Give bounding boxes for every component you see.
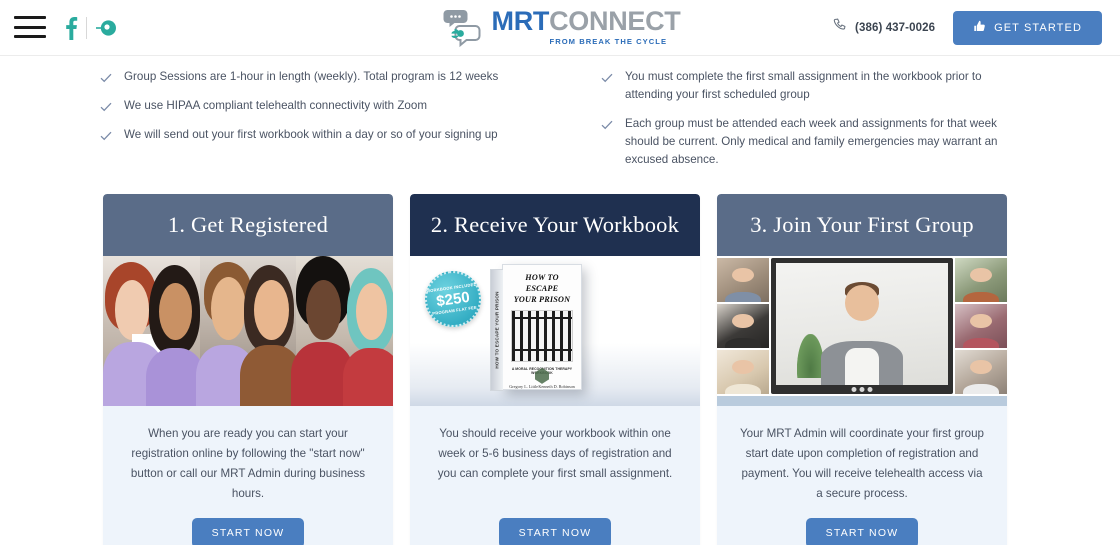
step-card-1-title: 1. Get Registered [103, 194, 393, 256]
check-icon [100, 100, 112, 112]
phone-number: (386) 437-0026 [855, 22, 935, 34]
header-actions: (386) 437-0026 GET STARTED [833, 11, 1102, 45]
phone-link[interactable]: (386) 437-0026 [833, 18, 935, 38]
pinterest-icon[interactable] [93, 15, 119, 41]
logo-secondary: CONNECT [549, 6, 680, 36]
step-card-1-body: When you are ready you can start your re… [103, 406, 393, 504]
list-item-text: We use HIPAA compliant telehealth connec… [124, 97, 427, 115]
get-started-button[interactable]: GET STARTED [953, 11, 1102, 45]
participant-thumbnail [955, 258, 1007, 302]
logo-primary: MRT [492, 6, 550, 36]
participant-thumbnail [955, 350, 1007, 394]
hamburger-menu-icon[interactable] [14, 16, 46, 38]
step-card-3-body: Your MRT Admin will coordinate your firs… [717, 406, 1007, 504]
workbook-spine: HOW TO ESCAPE YOUR PRISON [490, 269, 503, 391]
facebook-icon[interactable] [62, 13, 80, 43]
check-icon [100, 129, 112, 141]
list-item-text: Each group must be attended each week an… [625, 115, 1030, 169]
workbook-image: HOW TO ESCAPE YOUR PRISON HOW TO ESCAPE … [410, 256, 700, 406]
step-card-1-text: When you are ready you can start your re… [125, 424, 371, 504]
list-item-text: You must complete the first small assign… [625, 68, 1030, 104]
workbook-title-line1: HOW TO ESCAPE [509, 272, 575, 294]
participant-thumbnail [717, 258, 769, 302]
start-now-button-1[interactable]: START NOW [192, 518, 305, 545]
participant-column-left [717, 258, 769, 394]
participant-column-right [955, 258, 1007, 394]
site-header: MRTCONNECT FROM BREAK THE CYCLE (386) 43… [0, 0, 1120, 56]
step-card-2-text: You should receive your workbook within … [432, 424, 678, 484]
workbook-title-line2: YOUR PRISON [509, 294, 575, 305]
logo-tagline: FROM BREAK THE CYCLE [550, 38, 668, 46]
chat-bubbles-icon [440, 4, 486, 50]
main-video-tile [771, 258, 953, 394]
thumbs-up-icon [973, 20, 986, 36]
bullet-column-left: Group Sessions are 1-hour in length (wee… [100, 68, 529, 180]
bullet-column-right: You must complete the first small assign… [601, 68, 1030, 180]
list-item: We will send out your first workbook wit… [100, 126, 529, 144]
workbook-author-1: Gregory L. Little [509, 384, 538, 389]
participant-thumbnail [955, 304, 1007, 348]
step-card-2-body: You should receive your workbook within … [410, 406, 700, 504]
workbook-author-2: Kenneth D. Robinson [538, 384, 574, 389]
menu-line [14, 16, 46, 19]
social-links [62, 13, 119, 43]
check-icon [100, 71, 112, 83]
phone-icon [833, 18, 848, 38]
start-now-button-3[interactable]: START NOW [806, 518, 919, 545]
check-icon [601, 118, 613, 130]
check-icon [601, 71, 613, 83]
step-card-3-text: Your MRT Admin will coordinate your firs… [739, 424, 985, 504]
list-item: You must complete the first small assign… [601, 68, 1030, 104]
list-item: Group Sessions are 1-hour in length (wee… [100, 68, 529, 86]
menu-line [14, 35, 46, 38]
step-card-2-title: 2. Receive Your Workbook [410, 194, 700, 256]
divider [86, 17, 87, 39]
participant-thumbnail [717, 350, 769, 394]
workbook-spine-text: HOW TO ESCAPE YOUR PRISON [495, 291, 500, 368]
step-card-3-title: 3. Join Your First Group [717, 194, 1007, 256]
carousel-dots[interactable] [852, 387, 873, 392]
get-started-label: GET STARTED [994, 22, 1082, 34]
step-card-3: 3. Join Your First Group [717, 194, 1007, 545]
step-card-1: 1. Get Registered [103, 194, 393, 545]
price-badge: WORKBOOK INCLUDED $250 PROGRAM FLAT FEE [421, 267, 484, 330]
group-photo [103, 256, 393, 406]
video-call-grid [717, 256, 1007, 406]
list-item: We use HIPAA compliant telehealth connec… [100, 97, 529, 115]
site-logo[interactable]: MRTCONNECT FROM BREAK THE CYCLE [440, 4, 681, 50]
start-now-button-2[interactable]: START NOW [499, 518, 612, 545]
prison-bars-illustration [511, 310, 573, 362]
list-item: Each group must be attended each week an… [601, 115, 1030, 169]
step-card-2: 2. Receive Your Workbook HOW TO ESCAPE Y… [410, 194, 700, 545]
menu-line [14, 26, 46, 29]
program-details-list: Group Sessions are 1-hour in length (wee… [0, 56, 1120, 180]
list-item-text: Group Sessions are 1-hour in length (wee… [124, 68, 498, 86]
steps-cards: 1. Get Registered [0, 180, 1120, 545]
participant-thumbnail [717, 304, 769, 348]
workbook-cover: HOW TO ESCAPE YOUR PRISON HOW TO ESCAPE … [502, 264, 582, 390]
list-item-text: We will send out your first workbook wit… [124, 126, 498, 144]
